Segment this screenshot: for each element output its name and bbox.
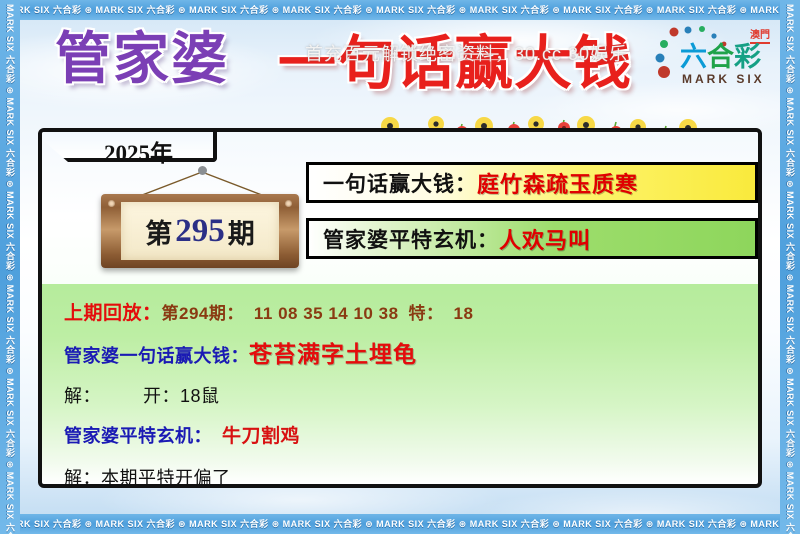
pingte-prev-value: 牛刀割鸡 [222,421,300,448]
logo-chinese-name: 六合彩 [680,44,761,71]
row-explanation-open: 解： 开： 18鼠 [64,382,758,408]
page-title: 管家婆 [55,32,229,88]
issue-hanging-sign: 第295期 [94,166,309,271]
sign-peg-left [108,200,115,207]
banner-pingte-value: 人欢马叫 [499,223,591,255]
logo-english-name: MARK SIX [682,72,765,86]
explanation-label-2: 解： [64,464,101,488]
logo-dot [656,54,665,63]
yijuhua-prev-label: 管家婆一句话赢大钱： [64,342,249,368]
poster-root: MARK SIX 六合彩 ⊛ MARK SIX 六合彩 ⊛ MARK SIX 六… [0,0,800,534]
mark-six-logo: 澳門 六合彩 MARK SIX [652,22,772,94]
pingte-prev-label: 管家婆平特玄机： [64,422,212,448]
open-value: 18鼠 [180,382,220,408]
banner-yijuhua-label: 一句话赢大钱： [323,168,477,198]
sign-hook-icon [198,166,207,175]
result-rows: 上期回放： 第294期： 11 08 35 14 10 38 特： 18 管家婆… [42,284,758,488]
issue-number: 295 [172,213,228,250]
logo-char-2: 合 [707,42,734,72]
sign-peg-right [285,200,292,207]
explanation-result-value: 本期平特开偏了 [101,464,231,488]
logo-dot [699,26,705,32]
replay-special-number: 18 [454,304,474,324]
frame-bottom-strip: MARK SIX 六合彩 ⊛ MARK SIX 六合彩 ⊛ MARK SIX 六… [0,514,800,534]
banner-pingte: 管家婆平特玄机： 人欢马叫 [306,218,758,259]
banner-yijuhua: 一句话赢大钱： 庭竹森疏玉质寒 [306,162,758,203]
poster-header: 管家婆 一句话赢大钱 首充百元解锁绝密资料，30.cc 30娱乐 澳門 六合彩 … [20,20,780,125]
replay-label: 上期回放： [64,298,162,325]
banner-pingte-label: 管家婆平特玄机： [323,224,499,254]
logo-dot [685,27,692,34]
main-content-panel: 2025年 第295期 一句话赢大钱： 庭竹森疏玉质寒 [38,128,762,488]
banner-yijuhua-value: 庭竹森疏玉质寒 [477,167,638,199]
frame-left-strip: MARK SIX 六合彩 ⊛ MARK SIX 六合彩 ⊛ MARK SIX 六… [0,0,20,534]
issue-suffix: 期 [228,212,255,251]
open-label: 开： [143,382,180,408]
year-label: 2025年 [104,134,173,168]
logo-dot [660,40,668,48]
row-pingte-previous: 管家婆平特玄机： 牛刀割鸡 [64,421,758,448]
issue-prefix: 第 [145,212,172,251]
explanation-label-1: 解： [64,382,101,408]
frame-top-strip: MARK SIX 六合彩 ⊛ MARK SIX 六合彩 ⊛ MARK SIX 六… [0,0,800,20]
row-previous-replay: 上期回放： 第294期： 11 08 35 14 10 38 特： 18 [64,298,758,325]
logo-dot [711,33,716,38]
row-explanation-result: 解： 本期平特开偏了 [64,464,758,488]
logo-char-1: 六 [680,42,707,72]
logo-char-3: 彩 [734,42,761,72]
replay-numbers: 11 08 35 14 10 38 [254,304,399,324]
replay-issue: 第294期： [162,299,244,324]
logo-dot [670,28,679,37]
issue-number-text: 第295期 [121,202,279,260]
sign-paper: 第295期 [121,202,279,260]
sign-board: 第295期 [101,194,299,268]
watermark-text: 首充百元解锁绝密资料，30.cc 30娱乐 [305,40,628,66]
frame-right-strip: MARK SIX 六合彩 ⊛ MARK SIX 六合彩 ⊛ MARK SIX 六… [780,0,800,534]
logo-dot [658,66,670,78]
yijuhua-prev-value: 苍苔满字土埋龟 [249,335,417,369]
row-yijuhua-previous: 管家婆一句话赢大钱： 苍苔满字土埋龟 [64,335,758,369]
replay-special-label: 特： [409,299,444,324]
